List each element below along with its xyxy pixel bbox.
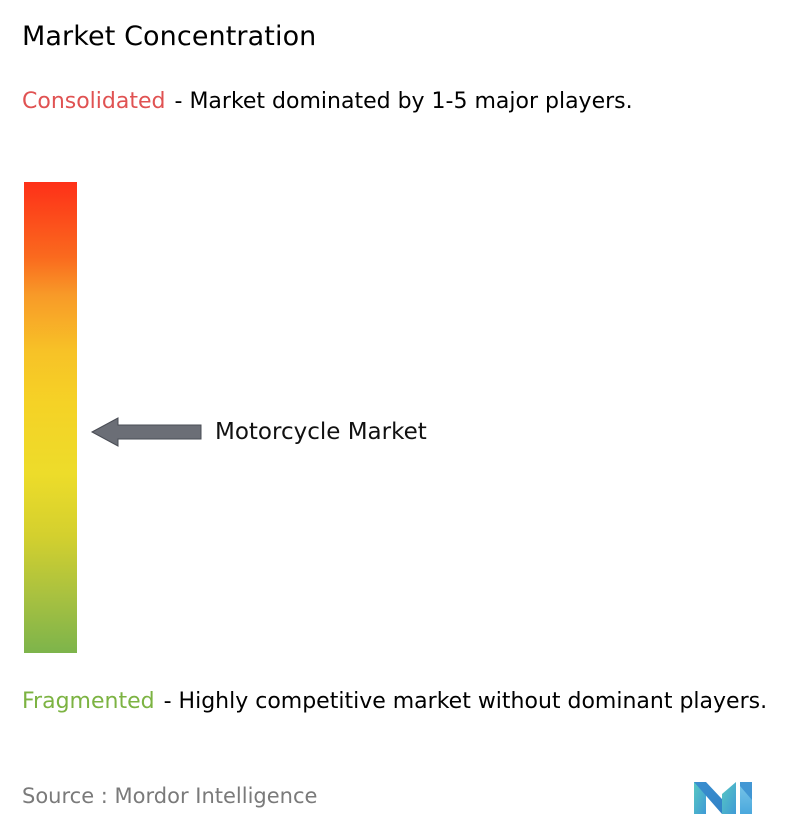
market-pointer: Motorcycle Market	[90, 412, 427, 452]
legend-fragmented: Fragmented- Highly competitive market wi…	[22, 686, 794, 717]
left-arrow-icon	[90, 412, 203, 452]
source-attribution: Source : Mordor Intelligence	[22, 782, 317, 810]
legend-separator-top: -	[174, 89, 182, 114]
legend-separator-bottom: -	[164, 689, 172, 714]
mordor-intelligence-logo-icon	[692, 776, 774, 822]
legend-label-fragmented: Fragmented	[22, 689, 155, 714]
legend-description-consolidated: Market dominated by 1-5 major players.	[189, 89, 632, 114]
legend-label-consolidated: Consolidated	[22, 89, 165, 114]
legend-consolidated: Consolidated- Market dominated by 1-5 ma…	[22, 86, 778, 117]
concentration-scale-bar	[24, 182, 77, 653]
page-title: Market Concentration	[22, 20, 316, 54]
legend-description-fragmented: Highly competitive market without domina…	[179, 689, 768, 714]
chart-canvas: Market Concentration Consolidated- Marke…	[0, 0, 796, 834]
market-pointer-label: Motorcycle Market	[215, 417, 427, 447]
